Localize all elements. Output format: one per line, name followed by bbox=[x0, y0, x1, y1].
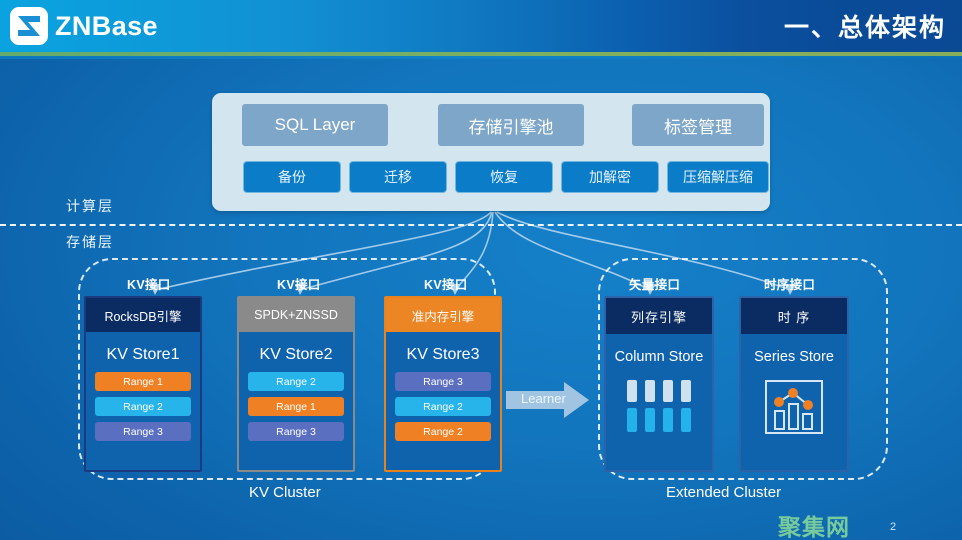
kv-store-3-ranges: Range 3 Range 2 Range 2 bbox=[386, 370, 500, 441]
znbase-z-logo-icon bbox=[10, 7, 48, 45]
slide-canvas: ZNBase 一、总体架构 SQL Layer 存储引擎池 标签管理 备份 迁移 bbox=[0, 0, 962, 540]
series-store-engine: 时 序 bbox=[741, 298, 847, 334]
range-item[interactable]: Range 3 bbox=[248, 422, 344, 441]
page-title: 一、总体架构 bbox=[784, 8, 946, 44]
compute-secondary-chip-row: 备份 迁移 恢复 加解密 压缩解压缩 bbox=[224, 161, 758, 197]
chip-backup[interactable]: 备份 bbox=[243, 161, 341, 193]
interface-label-timeseries: 时序接口 bbox=[764, 274, 815, 293]
interface-label-kv-1: KV接口 bbox=[127, 274, 171, 293]
column-store-box[interactable]: 列存引擎 Column Store bbox=[604, 296, 714, 472]
kv-store-1[interactable]: RocksDB引擎 KV Store1 Range 1 Range 2 Rang… bbox=[84, 296, 202, 472]
range-item[interactable]: Range 2 bbox=[95, 397, 191, 416]
storage-layer-label: 存储层 bbox=[66, 232, 114, 252]
chip-migrate[interactable]: 迁移 bbox=[349, 161, 447, 193]
brand-name: ZNBase bbox=[55, 7, 158, 45]
range-item[interactable]: Range 2 bbox=[395, 422, 491, 441]
kv-store-3-title: KV Store3 bbox=[386, 332, 500, 370]
kv-store-2-ranges: Range 2 Range 1 Range 3 bbox=[239, 370, 353, 441]
kv-cluster-label: KV Cluster bbox=[249, 484, 321, 501]
kv-store-2-engine: SPDK+ZNSSD bbox=[239, 298, 353, 332]
page-number: 2 bbox=[890, 521, 896, 533]
kv-store-2-title: KV Store2 bbox=[239, 332, 353, 370]
brand-logo: ZNBase bbox=[10, 7, 158, 45]
extended-cluster-label: Extended Cluster bbox=[666, 484, 781, 501]
kv-store-1-engine: RocksDB引擎 bbox=[86, 298, 200, 332]
range-item[interactable]: Range 2 bbox=[395, 397, 491, 416]
interface-label-vector: 矢量接口 bbox=[629, 274, 680, 293]
interface-label-kv-3: KV接口 bbox=[424, 274, 468, 293]
chip-encryption[interactable]: 加解密 bbox=[561, 161, 659, 193]
range-item[interactable]: Range 1 bbox=[95, 372, 191, 391]
kv-store-3-engine: 准内存引擎 bbox=[386, 298, 500, 332]
range-item[interactable]: Range 3 bbox=[395, 372, 491, 391]
range-item[interactable]: Range 1 bbox=[248, 397, 344, 416]
column-store-engine: 列存引擎 bbox=[606, 298, 712, 334]
watermark: 聚集网 bbox=[778, 508, 850, 540]
chip-sql-layer[interactable]: SQL Layer bbox=[242, 104, 388, 146]
time-series-chart-icon bbox=[741, 365, 847, 436]
kv-store-2[interactable]: SPDK+ZNSSD KV Store2 Range 2 Range 1 Ran… bbox=[237, 296, 355, 472]
compute-layer-panel: SQL Layer 存储引擎池 标签管理 备份 迁移 恢复 加解密 压缩解压缩 bbox=[212, 93, 770, 211]
chip-tag-management[interactable]: 标签管理 bbox=[632, 104, 764, 146]
series-store-title: Series Store bbox=[741, 334, 847, 365]
interface-label-kv-2: KV接口 bbox=[277, 274, 321, 293]
compute-primary-chip-row: SQL Layer 存储引擎池 标签管理 bbox=[224, 104, 758, 146]
column-bars-icon bbox=[606, 365, 712, 434]
series-store-box[interactable]: 时 序 Series Store bbox=[739, 296, 849, 472]
compute-layer-label: 计算层 bbox=[66, 196, 114, 216]
column-store-title: Column Store bbox=[606, 334, 712, 365]
kv-store-3[interactable]: 准内存引擎 KV Store3 Range 3 Range 2 Range 2 bbox=[384, 296, 502, 472]
chip-storage-engine-pool[interactable]: 存储引擎池 bbox=[438, 104, 584, 146]
header-divider-shadow bbox=[0, 56, 962, 59]
kv-store-1-title: KV Store1 bbox=[86, 332, 200, 370]
learner-label: Learner bbox=[521, 391, 566, 406]
chip-compression[interactable]: 压缩解压缩 bbox=[667, 161, 769, 193]
kv-store-1-ranges: Range 1 Range 2 Range 3 bbox=[86, 370, 200, 441]
layer-divider bbox=[0, 224, 962, 226]
range-item[interactable]: Range 2 bbox=[248, 372, 344, 391]
chip-restore[interactable]: 恢复 bbox=[455, 161, 553, 193]
range-item[interactable]: Range 3 bbox=[95, 422, 191, 441]
